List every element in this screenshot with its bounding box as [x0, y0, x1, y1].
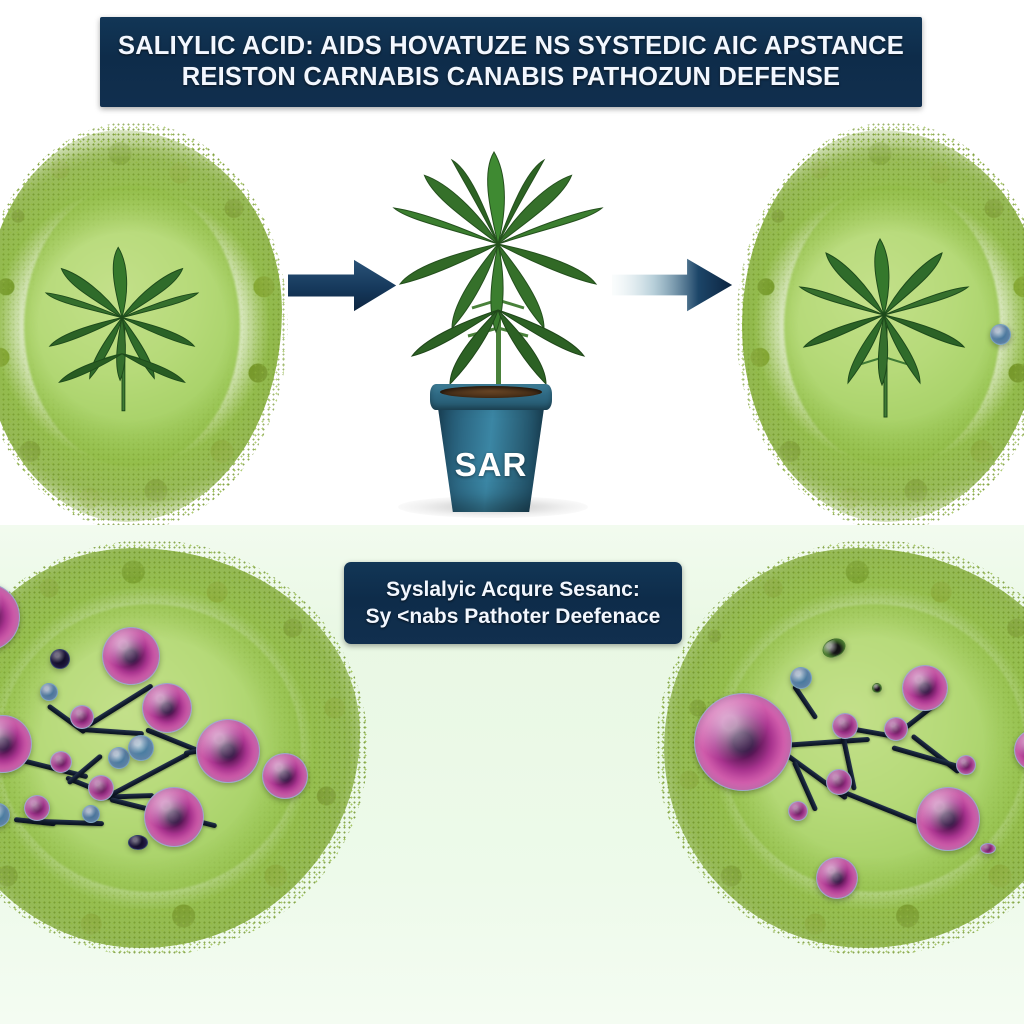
atom-dark	[128, 835, 148, 850]
signal-molecule-marker	[990, 324, 1011, 345]
atom-small	[788, 801, 808, 821]
atom-large	[196, 719, 260, 783]
atom-blue	[128, 735, 154, 761]
potted-cannabis-plant	[372, 132, 622, 397]
atom-blue	[82, 805, 100, 823]
pot-body	[438, 408, 544, 512]
title-line-2: REISTON CARNABIS CANABIS PATHOZUN DEFENS…	[182, 62, 841, 93]
bond	[82, 727, 144, 736]
bottom-panel: Syslalyic Acqure Sesanc: Sy <nabs Pathot…	[0, 525, 1024, 1024]
atom-small	[24, 795, 50, 821]
pot-soil	[440, 386, 542, 398]
atom-blue	[108, 747, 130, 769]
protected-cannabis-plant-right	[742, 130, 1024, 522]
atom-small	[980, 843, 996, 854]
salicylic-acid-molecule-left	[0, 605, 330, 925]
atom-small	[50, 751, 72, 773]
atom-blue	[40, 683, 58, 701]
atom-dark	[50, 649, 70, 669]
bond	[792, 684, 819, 720]
salicylic-acid-molecule-right	[676, 625, 1024, 945]
atom-large	[1014, 729, 1024, 771]
atom-small	[826, 769, 852, 795]
atom-small	[70, 705, 94, 729]
atom-large	[144, 787, 204, 847]
atom-small	[956, 755, 976, 775]
atom-small	[832, 713, 858, 739]
bond	[782, 737, 870, 748]
sar-plant-pot: SAR	[430, 384, 552, 512]
title-banner: SALIYLIC ACID: AIDS HOVATUZE NS SYSTEDIC…	[100, 17, 922, 107]
infected-cannabis-plant-left	[0, 130, 282, 522]
atom-green	[819, 635, 848, 661]
infographic-canvas: SAR	[0, 0, 1024, 1024]
atom-large	[902, 665, 948, 711]
title-line-1: SALIYLIC ACID: AIDS HOVATUZE NS SYSTEDIC…	[118, 31, 904, 62]
arrow-center-to-right	[612, 256, 734, 314]
atom-blue	[790, 667, 812, 689]
atom-large	[694, 693, 792, 791]
atom-large	[262, 753, 308, 799]
sar-banner-line-2: Sy <nabs Pathoter Deefenace	[366, 603, 661, 630]
cannabis-plant-icon	[784, 204, 984, 436]
top-panel: SAR	[0, 0, 1024, 525]
atom-large	[102, 627, 160, 685]
atom-small	[88, 775, 114, 801]
atom-large	[142, 683, 192, 733]
sar-banner-line-1: Syslalyic Acqure Sesanc:	[386, 576, 640, 603]
atom-green	[872, 683, 882, 693]
atom-small	[884, 717, 908, 741]
cannabis-plant-icon	[27, 208, 217, 433]
atom-blue	[0, 803, 10, 827]
atom-large	[816, 857, 858, 899]
sar-banner: Syslalyic Acqure Sesanc: Sy <nabs Pathot…	[344, 562, 682, 644]
atom-large	[916, 787, 980, 851]
